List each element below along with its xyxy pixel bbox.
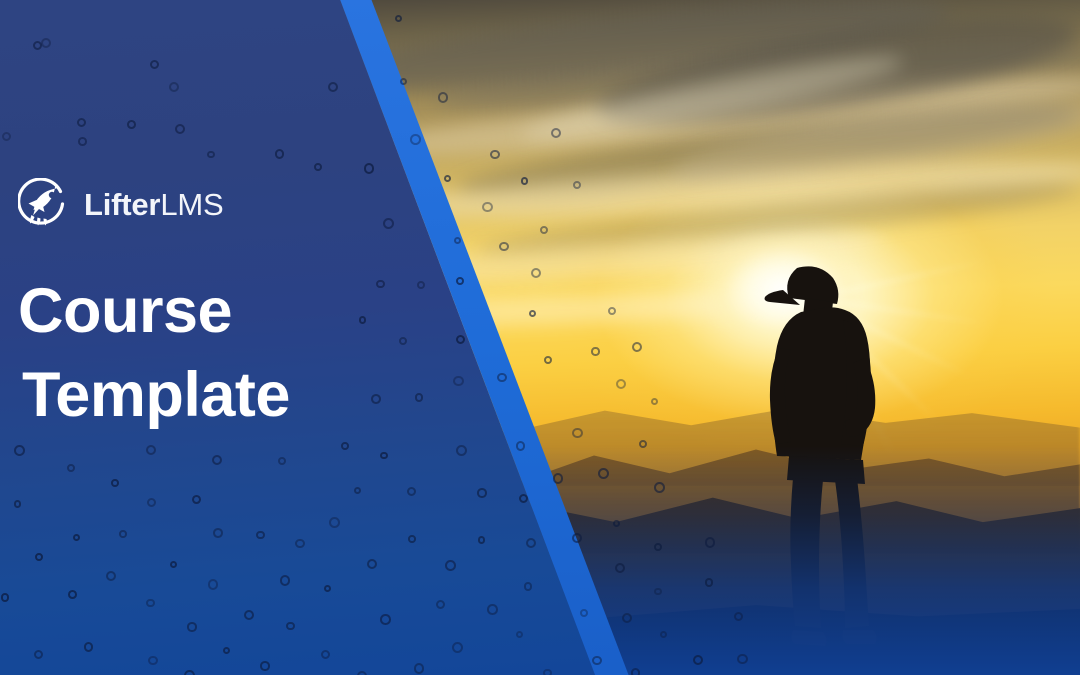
wordmark-lifter: Lifter bbox=[84, 187, 160, 222]
brand-logo: LifterLMS bbox=[18, 178, 438, 230]
banner-content: LifterLMS Course Template bbox=[18, 178, 438, 438]
page-title: Course Template bbox=[18, 270, 438, 438]
brand-wordmark: LifterLMS bbox=[84, 189, 223, 220]
rocket-in-circle-icon bbox=[18, 178, 70, 230]
banner-canvas: LifterLMS Course Template bbox=[0, 0, 1080, 675]
wordmark-lms: LMS bbox=[160, 187, 223, 222]
headline-line-2: Template bbox=[18, 354, 438, 438]
headline-line-1: Course bbox=[18, 270, 438, 354]
